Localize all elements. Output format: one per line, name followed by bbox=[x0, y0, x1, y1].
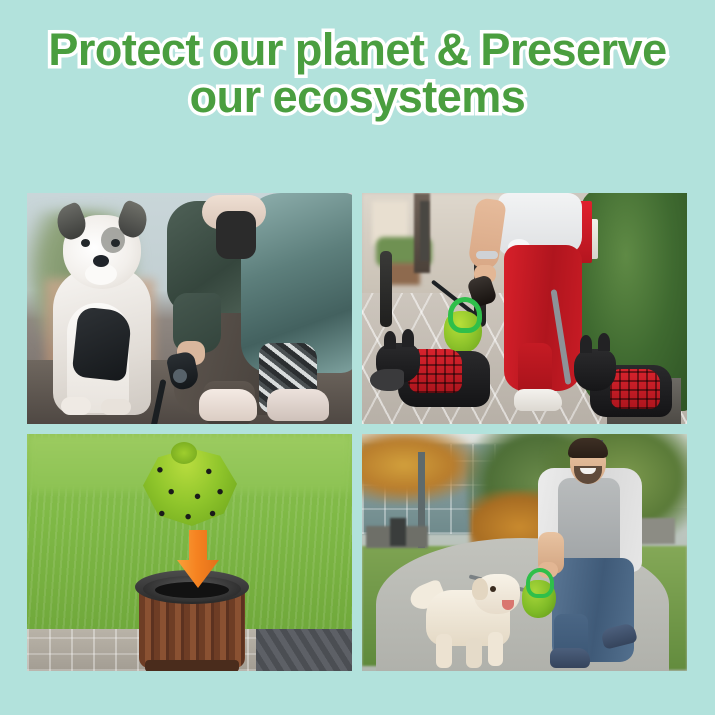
collie-paw-left bbox=[61, 397, 91, 415]
jacket-inner-layer bbox=[216, 211, 256, 259]
collie-paw-right bbox=[101, 399, 131, 415]
street-bollard-far bbox=[420, 201, 429, 261]
woman-shoe bbox=[514, 389, 562, 411]
man-tshirt bbox=[558, 478, 620, 570]
scottie-2-ear-right bbox=[598, 333, 610, 351]
path-dark-cobbles bbox=[256, 629, 352, 671]
street-bollard-left bbox=[380, 251, 392, 327]
scottie-1-beard bbox=[370, 369, 404, 391]
photo-bottom-left bbox=[27, 434, 352, 671]
retriever-ear bbox=[472, 578, 488, 600]
scottie-2-ear-left bbox=[580, 335, 592, 353]
wrist-bracelet bbox=[476, 251, 498, 259]
trash-can-base bbox=[145, 660, 239, 671]
waste-bag-knot bbox=[171, 442, 197, 464]
retriever-leg-1 bbox=[436, 634, 452, 668]
bag-clip-icon bbox=[448, 297, 482, 333]
collie-eye-left bbox=[81, 239, 90, 247]
bag-clip-icon bbox=[526, 568, 554, 598]
poster-canvas: Protect our planet & Preserve our ecosys… bbox=[0, 0, 715, 715]
scottie-2-tartan-coat bbox=[610, 369, 660, 409]
scottie-2-head bbox=[574, 349, 616, 391]
headline-line-2: our ecosystems bbox=[14, 73, 701, 120]
page-title: Protect our planet & Preserve our ecosys… bbox=[0, 26, 715, 121]
scottie-1-ear-left bbox=[384, 331, 396, 349]
man-shoe-left bbox=[550, 648, 590, 668]
park-trash-can bbox=[390, 518, 406, 546]
collie-nose bbox=[93, 255, 109, 267]
dog-harness bbox=[71, 306, 132, 381]
photo-top-right bbox=[362, 193, 687, 424]
retriever-leg-3 bbox=[488, 632, 503, 666]
scottie-1-ear-right bbox=[402, 329, 414, 347]
collie-eye-right bbox=[111, 239, 120, 247]
headline-line-1: Protect our planet & Preserve bbox=[14, 26, 701, 73]
photo-grid bbox=[27, 193, 687, 677]
man-hair bbox=[568, 438, 608, 458]
photo-bottom-right bbox=[362, 434, 687, 671]
photo-top-left bbox=[27, 193, 352, 424]
person-sneaker-left bbox=[199, 389, 257, 421]
leash-button bbox=[173, 369, 187, 383]
person-sneaker-right bbox=[267, 389, 329, 421]
retriever-eye bbox=[490, 586, 496, 592]
down-arrow-icon bbox=[175, 530, 221, 588]
retriever-leg-2 bbox=[466, 638, 482, 668]
